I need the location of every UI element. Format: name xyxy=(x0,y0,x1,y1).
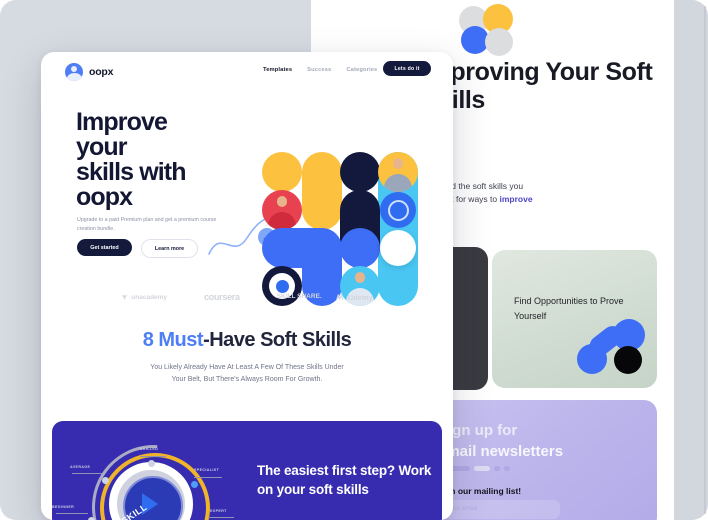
backdrop-right-strip xyxy=(674,0,708,520)
blue-circle-r3c3 xyxy=(340,228,380,268)
progress-bar-3 xyxy=(494,466,500,471)
page-scrollbar[interactable] xyxy=(704,6,707,514)
nav-link-success[interactable]: Success xyxy=(307,67,331,73)
blue-block-heading: The easiest first step? Work on your sof… xyxy=(257,461,432,499)
avatar-left xyxy=(262,190,302,230)
learn-more-button[interactable]: Learn more xyxy=(141,239,198,258)
gauge-node-skilled xyxy=(148,460,155,467)
hero-title: Improve your skills with oopx xyxy=(76,110,251,210)
gauge-label-specialist: SPECIALIST xyxy=(194,468,219,472)
avatar-head-icon xyxy=(355,272,365,282)
logo-skillshare-label: SKILL SHARE. xyxy=(277,294,299,301)
avatar-head-icon xyxy=(393,158,403,168)
hero-title-line-4: oopx xyxy=(76,183,132,211)
site-navbar: oopx Templates Success Categories Pricin… xyxy=(41,52,453,94)
yellow-pill-r1c2 xyxy=(302,152,342,230)
user-circle-logo-icon xyxy=(65,63,83,81)
camera-circle-icon xyxy=(380,192,416,228)
gauge-label-beginner: BEGINNER xyxy=(52,505,74,509)
dot-gray-bottom-right-icon xyxy=(485,28,513,56)
unacademy-mark-icon xyxy=(121,294,128,301)
gauge-label-expert: EXPERT xyxy=(210,509,227,513)
yellow-circle-r1c1 xyxy=(262,152,302,192)
hero-subtitle: Upgrade to a paid Premium plan and get a… xyxy=(77,216,217,233)
logo-skillshare: SKILL SHARE. xyxy=(277,294,299,301)
gauge-tick-skilled xyxy=(140,456,166,457)
brand-logo[interactable]: oopx xyxy=(65,63,113,81)
section-title-accent: 8 Must xyxy=(143,329,203,351)
hero-title-line-1: Improve xyxy=(76,108,167,136)
udemy-mark-icon xyxy=(336,293,345,301)
logo-coursera-label: coursera xyxy=(204,292,240,302)
screenshot-stage: Improving Your Soft Skills identified th… xyxy=(0,0,708,520)
nav-link-templates[interactable]: Templates xyxy=(263,67,292,73)
email-input[interactable]: Your email xyxy=(438,500,560,519)
hero-title-line-2: your xyxy=(76,133,127,161)
avatar-head-icon xyxy=(277,196,287,206)
newsletter-title-bold: email newsletters xyxy=(438,443,563,460)
avatar-top-right xyxy=(378,152,418,192)
gauge-tick-beginner xyxy=(56,513,88,514)
partner-logos-row: unacademy coursera SKILL SHARE. Udemy xyxy=(41,284,453,310)
section-title: 8 Must-Have Soft Skills xyxy=(41,329,453,352)
logo-udemy-label: Udemy xyxy=(348,293,373,302)
logo-unacademy: unacademy xyxy=(121,294,167,301)
gauge-label-skilled: SKILLED xyxy=(140,447,158,451)
newsletter-title: Sign up for email newsletters xyxy=(438,420,638,462)
progress-bar-2 xyxy=(474,466,490,471)
section-title-rest: -Have Soft Skills xyxy=(203,329,351,351)
hero-title-line-3: skills with xyxy=(76,158,186,186)
avatar-body-icon xyxy=(384,174,413,192)
gauge-node-average xyxy=(102,477,109,484)
lets-do-it-button[interactable]: Lets do it xyxy=(383,61,431,76)
dots-cluster-graphic xyxy=(459,4,515,56)
hero-buttons: Get started Learn more xyxy=(77,239,198,258)
right-panel-title: Improving Your Soft Skills xyxy=(422,58,672,114)
purple-newsletter-card[interactable]: Sign up for email newsletters Join our m… xyxy=(418,400,657,520)
blob-circle-black-icon xyxy=(614,346,642,374)
gauge-label-average: AVERAGE xyxy=(70,465,90,469)
nav-link-categories[interactable]: Categories xyxy=(346,67,377,73)
brand-name: oopx xyxy=(89,66,113,78)
blue-black-blob-graphic xyxy=(577,319,645,374)
logo-coursera: coursera xyxy=(204,292,240,302)
gauge-tick-average xyxy=(72,473,102,474)
rp-para-bold1: improve xyxy=(499,194,532,204)
skill-gauge-graphic: SKILL BEGINNER AVERAGE SKILLED SPECIALIS… xyxy=(90,443,212,520)
gauge-tick-expert xyxy=(208,517,234,518)
blob-circle-left-icon xyxy=(577,344,607,374)
main-landing-page-card: oopx Templates Success Categories Pricin… xyxy=(41,52,453,520)
white-circle-r3c4 xyxy=(380,230,416,266)
get-started-button[interactable]: Get started xyxy=(77,239,132,256)
section-subtitle: You Likely Already Have At Least A Few O… xyxy=(147,362,347,385)
gauge-tick-specialist xyxy=(194,477,222,478)
navy-circle-r1c3 xyxy=(340,152,380,192)
green-opportunity-card[interactable]: Find Opportunities to Prove Yourself xyxy=(492,250,657,388)
progress-bar-4 xyxy=(504,466,510,471)
gauge-node-specialist xyxy=(191,481,198,488)
logo-unacademy-label: unacademy xyxy=(131,294,167,301)
logo-udemy: Udemy xyxy=(336,293,373,302)
soft-skills-blue-block: SKILL BEGINNER AVERAGE SKILLED SPECIALIS… xyxy=(52,421,442,520)
